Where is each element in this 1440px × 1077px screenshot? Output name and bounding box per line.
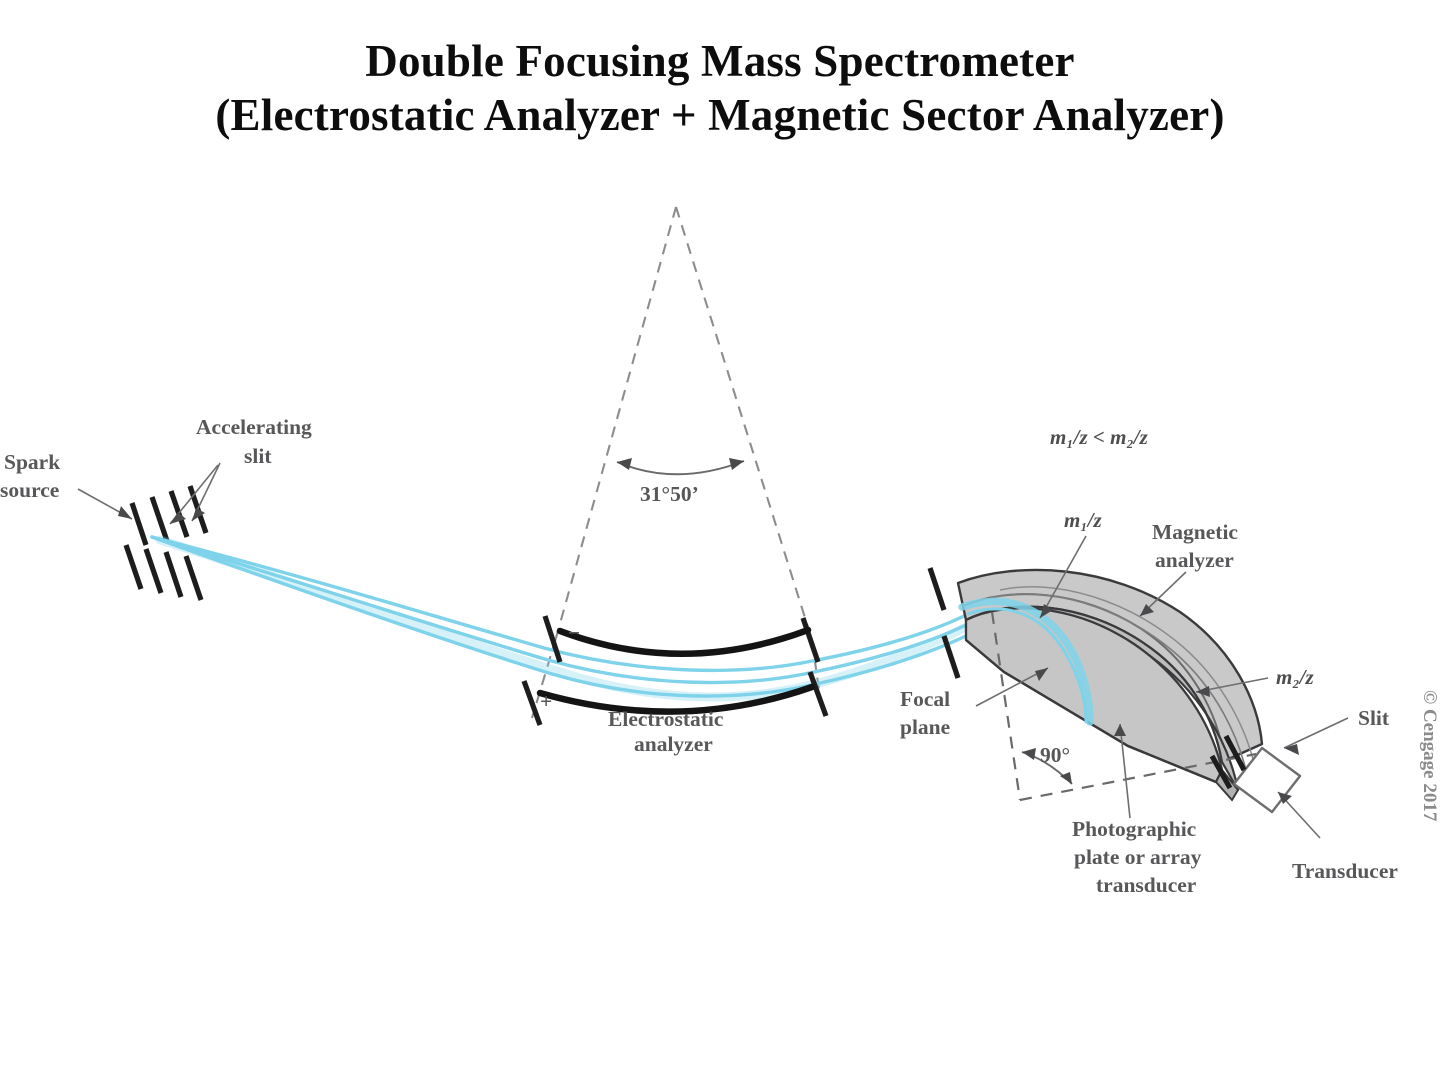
label-spark-source-2: source (0, 478, 59, 502)
electrostatic-analyzer: − + Electrostatic analyzer (524, 616, 826, 756)
esa-polarity-positive: + (540, 689, 552, 713)
slit-lower-2 (146, 549, 161, 593)
label-accelerating-slit-2: slit (244, 444, 272, 468)
copyright-text: © Cengage 2017 (1419, 690, 1440, 822)
slit-lower-4 (186, 556, 201, 600)
esa-angle-label: 31°50’ (640, 482, 699, 506)
label-slit: Slit (1358, 706, 1390, 730)
leader-slit (1284, 718, 1348, 748)
label-focal-plane-2: plane (900, 715, 950, 739)
slit-lower-1 (126, 545, 141, 589)
angle-90-arrow-left (1022, 748, 1036, 760)
label-transducer: Transducer (1292, 859, 1398, 883)
label-photographic-1: Photographic (1072, 817, 1196, 841)
esa-entry-slit-upper (545, 616, 560, 662)
angle-arrow-left (617, 458, 632, 470)
copyright-notice: © Cengage 2017 (1419, 690, 1440, 822)
label-spark-source-1: Spark (4, 450, 60, 474)
label-magnetic-analyzer-2: analyzer (1155, 548, 1234, 572)
esa-label-line1: Electrostatic (608, 707, 723, 731)
label-photographic-2: plate or array (1074, 845, 1202, 869)
slit-lower-3 (166, 552, 181, 597)
angle-90-label: 90° (1040, 743, 1070, 767)
focal-slit-upper (930, 568, 944, 610)
apex-line-left (556, 207, 676, 638)
transducer-square (1234, 748, 1300, 812)
apex-line-right (676, 207, 812, 640)
label-focal-plane-1: Focal (900, 687, 950, 711)
beam-halo (160, 540, 1087, 697)
slit-upper-2 (152, 497, 167, 541)
esa-label-line2: analyzer (634, 732, 713, 756)
label-photographic-3: transducer (1096, 873, 1197, 897)
slit-upper-1 (132, 503, 146, 545)
angle-arc (617, 461, 744, 474)
esa-polarity-negative: − (568, 621, 580, 645)
leader-head-slit (1284, 744, 1299, 755)
figure-root: Double Focusing Mass Spectrometer (Elect… (0, 0, 1440, 1077)
angle-arrow-right (729, 458, 744, 470)
beam-ray-3 (152, 537, 1088, 696)
label-m2-over-z: m₂/z (1276, 665, 1314, 689)
esa-angle-marker: 31°50’ (617, 458, 744, 506)
ion-beam (152, 537, 1088, 697)
leader-head-spark-source (118, 506, 132, 519)
esa-entry-slit-lower (524, 681, 540, 725)
esa-exit-slit-upper (803, 618, 818, 662)
label-accelerating-slit-1: Accelerating (196, 415, 312, 439)
label-mass-relation: m₁/z < m₂/z (1050, 425, 1149, 449)
label-magnetic-analyzer-1: Magnetic (1152, 520, 1238, 544)
label-m1-over-z: m₁/z (1064, 508, 1102, 532)
esa-plate-negative (560, 630, 808, 654)
spectrometer-diagram: 31°50’ (0, 0, 1440, 1077)
